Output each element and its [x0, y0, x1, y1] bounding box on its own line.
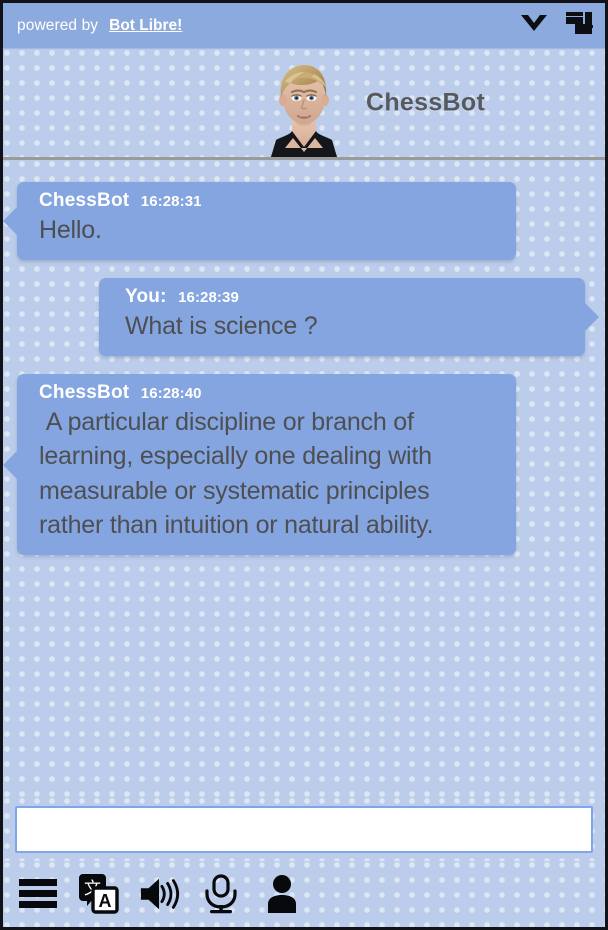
person-icon[interactable] — [261, 873, 303, 915]
message-header: ChessBot 16:28:40 — [39, 383, 500, 404]
chat-widget: powered by Bot Libre! — [0, 0, 608, 930]
conversation-log[interactable]: ChessBot 16:28:31 Hello. You: 16:28:39 W… — [3, 160, 605, 797]
message-text: A particular discipline or branch of lea… — [39, 405, 500, 542]
message-row-user: You: 16:28:39 What is science ? — [3, 278, 605, 356]
chevron-down-icon[interactable] — [519, 12, 549, 39]
input-area — [3, 797, 605, 861]
message-bubble: ChessBot 16:28:40 A particular disciplin… — [17, 374, 516, 555]
speaker-icon[interactable] — [139, 873, 181, 915]
bubble-tail-icon — [3, 206, 18, 236]
message-timestamp: 16:28:31 — [141, 193, 202, 210]
restore-window-icon[interactable] — [565, 10, 593, 41]
message-header: You: 16:28:39 — [125, 287, 569, 308]
message-sender: ChessBot — [39, 382, 129, 403]
message-bubble: You: 16:28:39 What is science ? — [99, 278, 585, 356]
svg-text:A: A — [99, 891, 112, 911]
message-row-bot: ChessBot 16:28:31 Hello. — [3, 182, 605, 260]
message-header: ChessBot 16:28:31 — [39, 191, 500, 212]
message-row-bot: ChessBot 16:28:40 A particular disciplin… — [3, 374, 605, 555]
branding-bar: powered by Bot Libre! — [3, 3, 605, 49]
bot-name-label: ChessBot — [366, 89, 485, 118]
translate-icon[interactable]: 文 A — [78, 873, 120, 915]
message-bubble: ChessBot 16:28:31 Hello. — [17, 182, 516, 260]
menu-icon[interactable] — [17, 873, 59, 915]
message-sender: ChessBot — [39, 190, 129, 211]
bubble-tail-icon — [584, 302, 599, 332]
message-timestamp: 16:28:39 — [178, 289, 239, 306]
bot-avatar-image — [252, 53, 356, 157]
chat-input[interactable] — [15, 806, 593, 853]
toolbar: 文 A — [3, 861, 605, 927]
branding-actions — [519, 10, 593, 41]
message-text: What is science ? — [125, 309, 569, 343]
message-sender: You: — [125, 286, 167, 307]
bot-header: ChessBot — [3, 49, 605, 160]
microphone-icon[interactable] — [200, 873, 242, 915]
message-text: Hello. — [39, 213, 500, 247]
message-timestamp: 16:28:40 — [141, 385, 202, 402]
powered-by-label: powered by — [17, 17, 98, 35]
bot-libre-link[interactable]: Bot Libre! — [109, 17, 182, 35]
bubble-tail-icon — [3, 450, 18, 480]
